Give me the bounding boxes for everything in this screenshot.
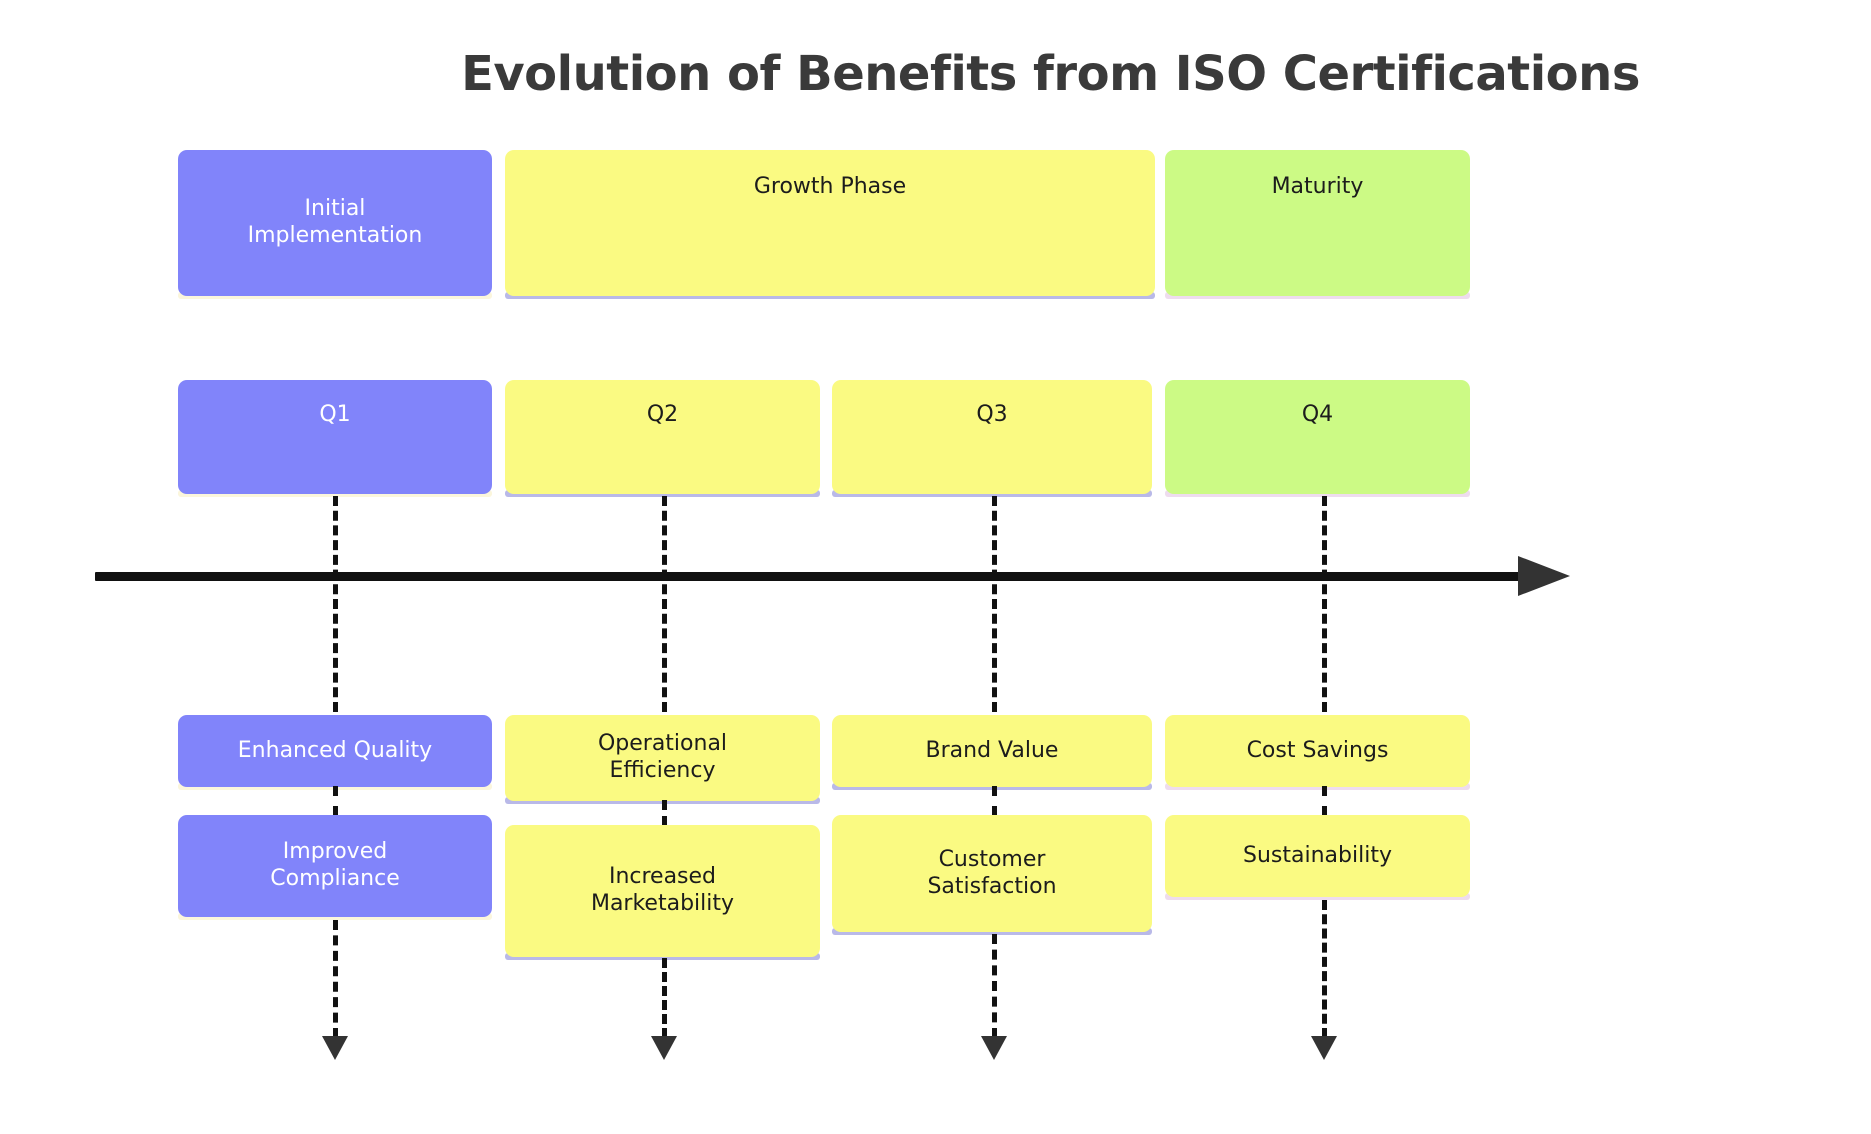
benefit-box-operational-efficiency[interactable]: Operational Efficiency [505, 715, 820, 801]
benefit-box-cost-savings[interactable]: Cost Savings [1165, 715, 1470, 787]
quarter-box-q3[interactable]: Q3 [832, 380, 1152, 494]
benefit-box-customer-satisfaction[interactable]: Customer Satisfaction [832, 815, 1152, 932]
quarter-box-q1[interactable]: Q1 [178, 380, 492, 494]
connector-operational-efficiency-to-increased-marketability [662, 800, 667, 826]
connector-q3-terminal [992, 934, 997, 1038]
connector-q3-to-benefit [992, 496, 997, 712]
phase-box-growth-phase[interactable]: Growth Phase [505, 150, 1155, 296]
quarter-box-q2[interactable]: Q2 [505, 380, 820, 494]
connector-q4-terminal [1322, 900, 1327, 1038]
q2-terminal-arrowhead-icon [651, 1036, 677, 1060]
q4-terminal-arrowhead-icon [1311, 1036, 1337, 1060]
timeline-axis-line [95, 572, 1535, 581]
timeline-arrowhead-icon [1518, 556, 1570, 596]
connector-q1-terminal [333, 920, 338, 1038]
connector-q2-to-benefit [662, 496, 667, 712]
connector-cost-savings-to-sustainability [1322, 786, 1327, 816]
connector-q1-to-benefit [333, 496, 338, 712]
q3-terminal-arrowhead-icon [981, 1036, 1007, 1060]
connector-q2-terminal [662, 958, 667, 1038]
timeline-diagram-canvas: Evolution of Benefits from ISO Certifica… [0, 0, 1871, 1134]
phase-box-maturity[interactable]: Maturity [1165, 150, 1470, 296]
connector-brand-value-to-customer-satisfaction [992, 786, 997, 816]
benefit-box-enhanced-quality[interactable]: Enhanced Quality [178, 715, 492, 787]
connector-q4-to-benefit [1322, 496, 1327, 712]
quarter-box-q4[interactable]: Q4 [1165, 380, 1470, 494]
benefit-box-improved-compliance[interactable]: Improved Compliance [178, 815, 492, 917]
phase-box-initial-implementation[interactable]: Initial Implementation [178, 150, 492, 296]
q1-terminal-arrowhead-icon [322, 1036, 348, 1060]
benefit-box-sustainability[interactable]: Sustainability [1165, 815, 1470, 897]
page-title: Evolution of Benefits from ISO Certifica… [0, 46, 1871, 102]
benefit-box-brand-value[interactable]: Brand Value [832, 715, 1152, 787]
benefit-box-increased-marketability[interactable]: Increased Marketability [505, 825, 820, 957]
connector-enhanced-quality-to-improved-compliance [333, 786, 338, 816]
